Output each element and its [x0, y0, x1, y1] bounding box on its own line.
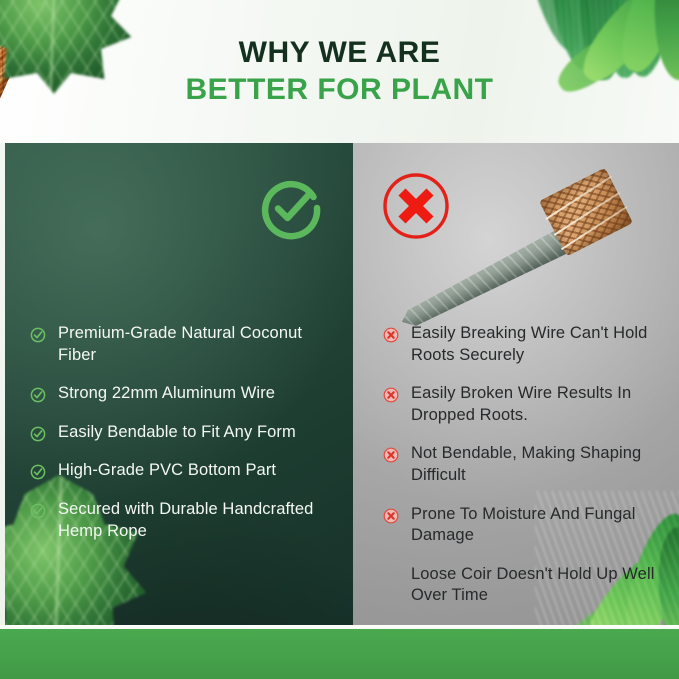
circle-cross-icon [383, 387, 399, 403]
binding-thread [545, 176, 612, 220]
list-item-label: Not Bendable, Making Shaping Difficult [411, 443, 663, 486]
list-item: Premium-Grade Natural Coconut Fiber [30, 323, 340, 366]
list-item-label: Easily Broken Wire Results In Dropped Ro… [411, 383, 663, 426]
binding-thread [554, 192, 621, 236]
list-item: Strong 22mm Aluminum Wire [30, 383, 340, 405]
page-title-line-1: WHY WE ARE [239, 36, 441, 70]
list-item-label: Secured with Durable Handcrafted Hemp Ro… [58, 499, 340, 542]
list-item: Not Bendable, Making Shaping Difficult [383, 443, 663, 486]
footer-divider [0, 625, 679, 629]
list-item: Secured with Durable Handcrafted Hemp Ro… [30, 499, 340, 542]
list-item: Prone To Moisture And Fungal Damage [383, 504, 663, 547]
list-item: Easily Broken Wire Results In Dropped Ro… [383, 383, 663, 426]
list-item-label: Strong 22mm Aluminum Wire [58, 383, 275, 405]
left-edge-strip [0, 143, 5, 625]
list-item-label: Easily Breaking Wire Can't Hold Roots Se… [411, 323, 663, 366]
circle-check-icon [30, 503, 46, 519]
circle-check-icon [30, 426, 46, 442]
binding-thread [561, 206, 628, 250]
advantages-list: Premium-Grade Natural Coconut Fiber Stro… [30, 323, 340, 542]
list-item-label: Premium-Grade Natural Coconut Fiber [58, 323, 340, 366]
list-item: High-Grade PVC Bottom Part [30, 460, 340, 482]
list-item: Loose Coir Doesn't Hold Up Well Over Tim… [383, 564, 663, 607]
list-item-label: Prone To Moisture And Fungal Damage [411, 504, 663, 547]
page-title-line-2: BETTER FOR PLANT [186, 73, 494, 107]
circle-cross-icon [383, 508, 399, 524]
list-item-label: Easily Bendable to Fit Any Form [58, 422, 296, 444]
comparison-infographic: WHY WE ARE BETTER FOR PLANT Premium-Grad… [0, 0, 679, 679]
list-item: Easily Breaking Wire Can't Hold Roots Se… [383, 323, 663, 366]
panel-disadvantages: Easily Breaking Wire Can't Hold Roots Se… [353, 143, 679, 625]
circle-cross-badge-icon [381, 171, 451, 241]
circle-check-badge-icon [258, 175, 324, 241]
comparison-panels: Premium-Grade Natural Coconut Fiber Stro… [0, 143, 679, 625]
circle-cross-icon [383, 447, 399, 463]
panel-advantages: Premium-Grade Natural Coconut Fiber Stro… [0, 143, 353, 625]
circle-cross-icon [383, 327, 399, 343]
competitor-shaft [396, 230, 566, 334]
leaf-vein-texture [0, 0, 138, 94]
list-item-label: Loose Coir Doesn't Hold Up Well Over Tim… [411, 564, 663, 607]
circle-check-icon [30, 464, 46, 480]
footer-bar [0, 629, 679, 679]
footer-monstera-leaf-decor [0, 0, 138, 94]
circle-check-icon [30, 327, 46, 343]
list-item: Easily Bendable to Fit Any Form [30, 422, 340, 444]
footer-fern-decor [551, 0, 679, 84]
disadvantages-list: Easily Breaking Wire Can't Hold Roots Se… [383, 323, 663, 607]
circle-check-icon [30, 387, 46, 403]
list-item-label: High-Grade PVC Bottom Part [58, 460, 276, 482]
